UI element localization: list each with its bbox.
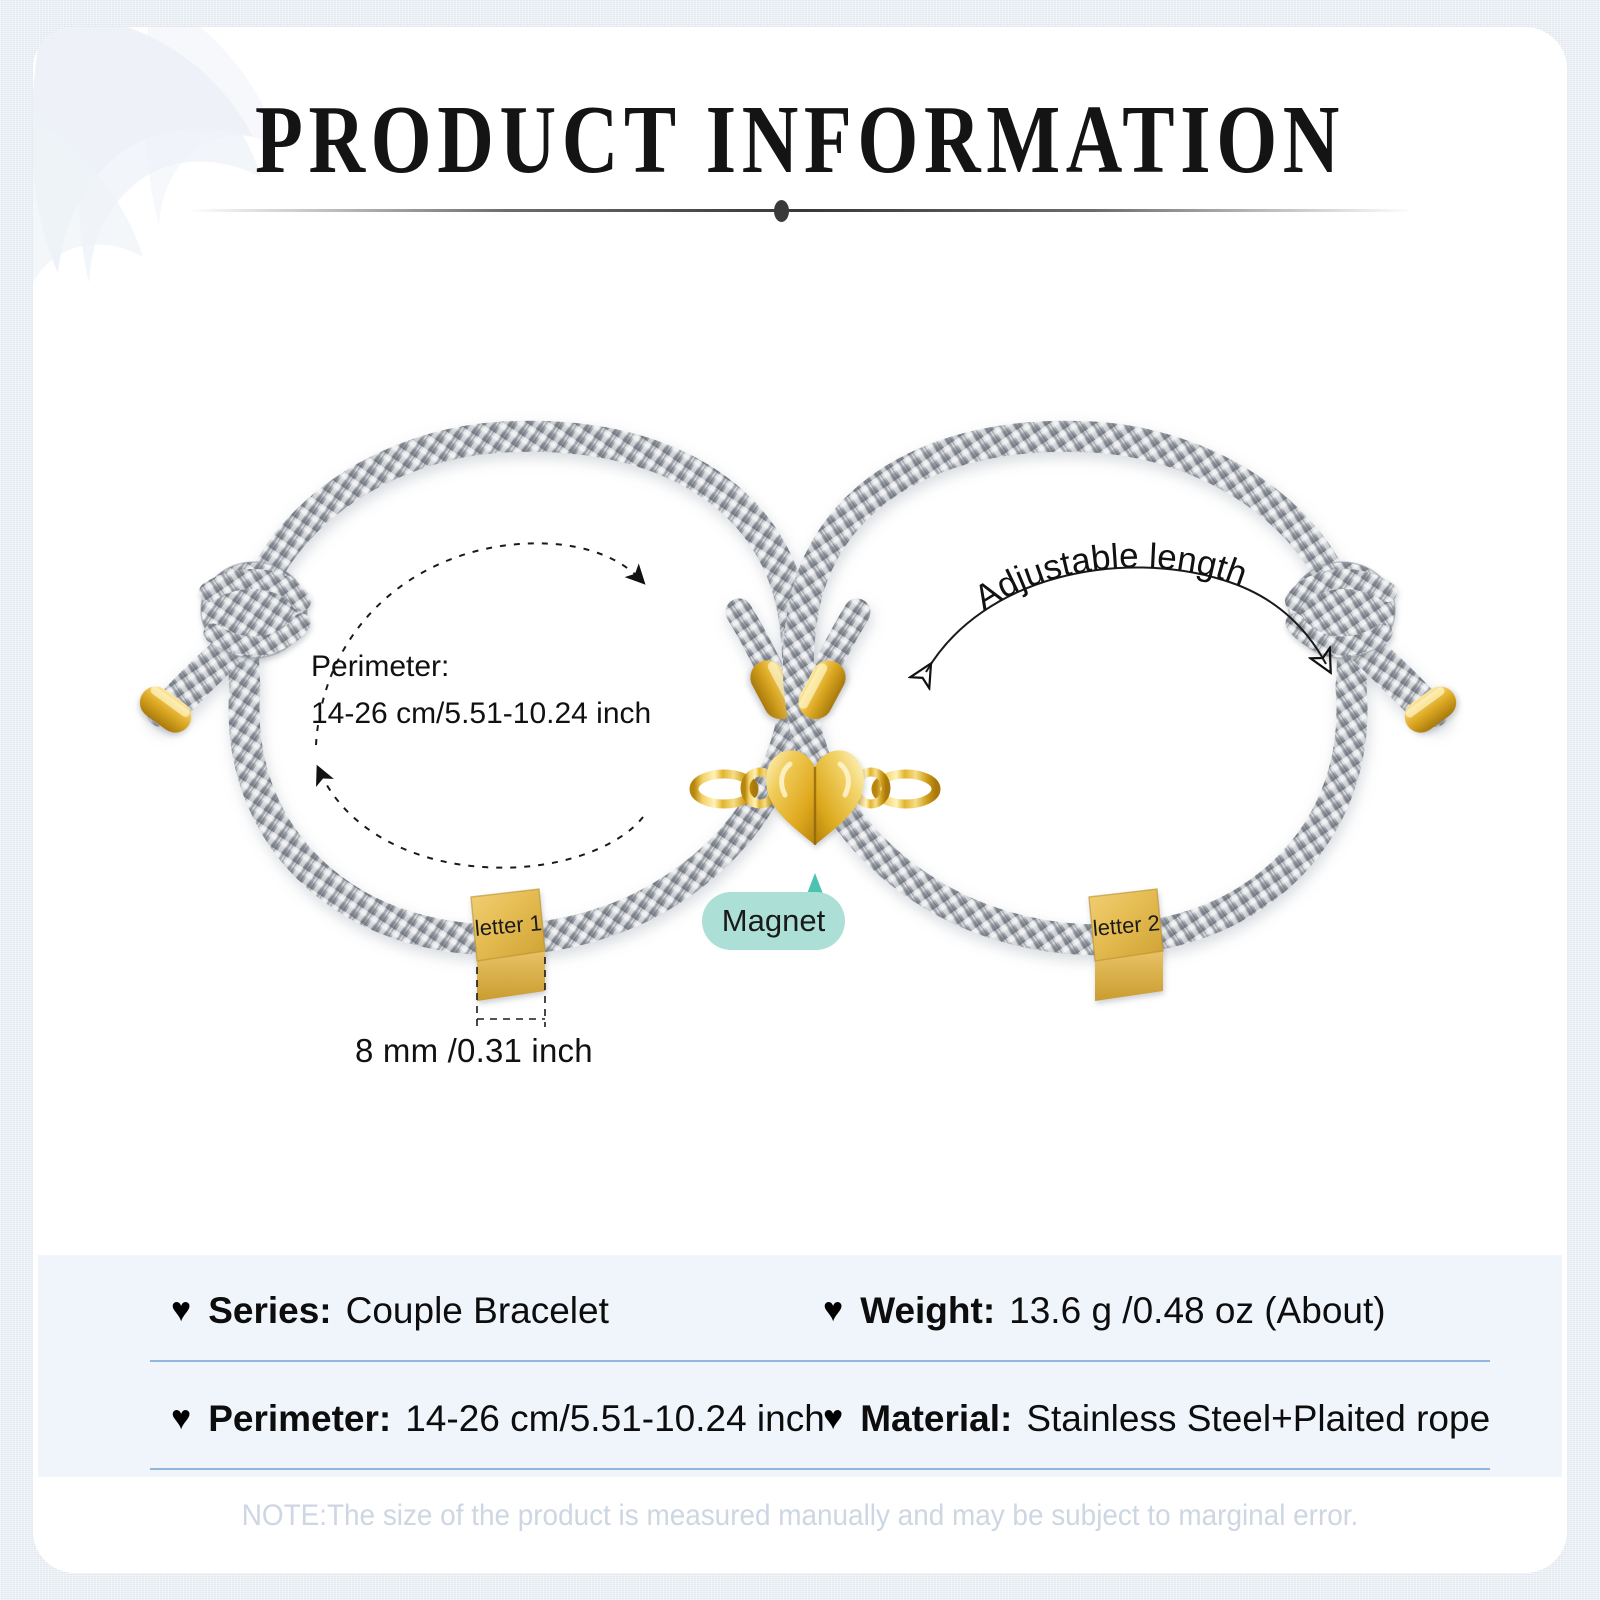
product-information-card: PRODUCT INFORMATION [33, 27, 1567, 1573]
perimeter-annotation-value: 14-26 cm/5.51-10.24 inch [311, 691, 711, 738]
spec-value-perimeter: 14-26 cm/5.51-10.24 inch [405, 1398, 825, 1440]
spec-label-weight: Weight: [860, 1290, 995, 1332]
spec-value-series: Couple Bracelet [346, 1290, 609, 1332]
left-knot [201, 562, 307, 658]
right-letter-bead: letter 2 [1089, 889, 1163, 1001]
right-bracelet [798, 436, 1435, 940]
spec-item-perimeter: ♥ Perimeter: 14-26 cm/5.51-10.24 inch [171, 1373, 825, 1465]
adjustable-length-label: Adjustable length [968, 536, 1253, 617]
heart-icon: ♥ [823, 1293, 843, 1327]
right-knot [1289, 562, 1395, 658]
magnet-callout: Magnet [702, 892, 845, 950]
spec-label-material: Material: [860, 1398, 1012, 1440]
heart-icon: ♥ [171, 1293, 191, 1327]
spec-divider [150, 1360, 1490, 1362]
perimeter-annotation-label: Perimeter: [311, 644, 711, 691]
clasp-jump-ring-right [856, 772, 936, 804]
heart-icon: ♥ [171, 1401, 191, 1435]
heart-icon: ♥ [823, 1401, 843, 1435]
footer-note: NOTE:The size of the product is measured… [87, 1499, 1514, 1533]
perimeter-annotation: Perimeter: 14-26 cm/5.51-10.24 inch [311, 644, 711, 737]
left-letter-bead: letter 1 [471, 889, 545, 1001]
spec-divider [150, 1468, 1490, 1470]
spec-value-weight: 13.6 g /0.48 oz (About) [1009, 1290, 1385, 1332]
spec-value-material: Stainless Steel+Plaited rope [1026, 1398, 1490, 1440]
bead-size-label: 8 mm /0.31 inch [355, 1032, 593, 1070]
perimeter-arrow-bottom [320, 772, 643, 868]
magnet-callout-label: Magnet [722, 903, 825, 939]
spec-item-series: ♥ Series: Couple Bracelet [171, 1265, 609, 1357]
specification-panel: ♥ Series: Couple Bracelet ♥ Weight: 13.6… [38, 1255, 1562, 1477]
spec-row: ♥ Series: Couple Bracelet ♥ Weight: 13.6… [38, 1265, 1562, 1357]
spec-label-series: Series: [208, 1290, 331, 1332]
spec-item-material: ♥ Material: Stainless Steel+Plaited rope [823, 1373, 1490, 1465]
spec-item-weight: ♥ Weight: 13.6 g /0.48 oz (About) [823, 1265, 1386, 1357]
spec-row: ♥ Perimeter: 14-26 cm/5.51-10.24 inch ♥ … [38, 1373, 1562, 1465]
spec-label-perimeter: Perimeter: [208, 1398, 391, 1440]
